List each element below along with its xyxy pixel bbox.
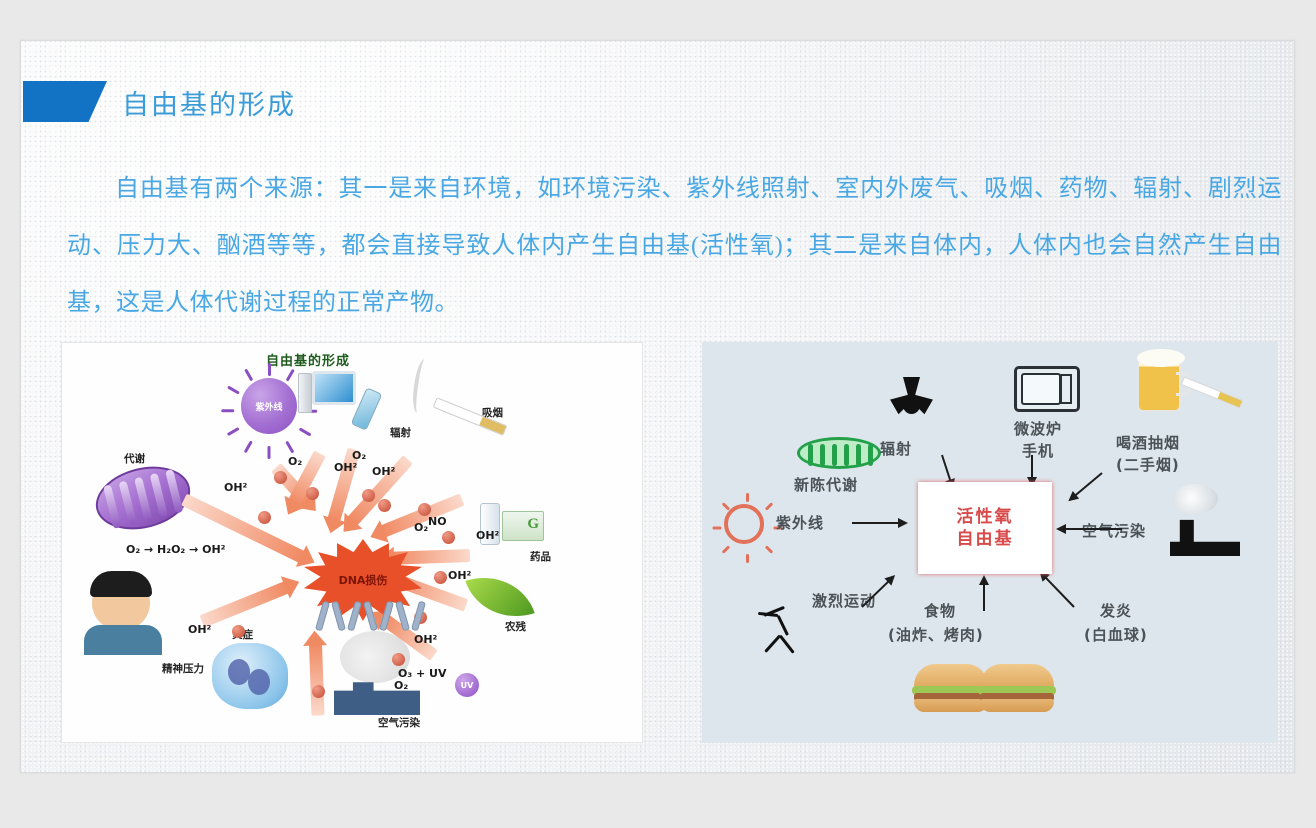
medicine-label: 药品 bbox=[530, 549, 551, 564]
white-blood-cell-label: (白血球) bbox=[1084, 624, 1148, 645]
oh-label: OH² bbox=[188, 623, 211, 636]
body-paragraph: 自由基有两个来源：其一是来自环境，如环境污染、紫外线照射、室内外废气、吸烟、药物… bbox=[67, 161, 1282, 332]
uv-ray-icon bbox=[299, 427, 312, 436]
radiation-trefoil-icon bbox=[884, 378, 938, 432]
cigarette-smoke-icon bbox=[410, 358, 431, 413]
flow-arrow bbox=[852, 522, 906, 524]
oh-label: OH² bbox=[224, 481, 247, 494]
factory-icon bbox=[1170, 514, 1240, 556]
air-pollution-label: 空气污染 bbox=[378, 715, 420, 730]
uv-badge-icon: UV bbox=[455, 673, 479, 697]
running-person-icon bbox=[750, 592, 806, 654]
molecule-dot bbox=[312, 685, 325, 698]
uv-sun-label: 紫外线 bbox=[255, 400, 282, 413]
uv-ray-icon bbox=[244, 441, 253, 454]
computer-monitor-icon bbox=[298, 371, 356, 417]
reaction-formula-label: O₂ → H₂O₂ → OH² bbox=[126, 543, 226, 556]
molecule-dot bbox=[392, 653, 405, 666]
no-label: NO bbox=[428, 515, 447, 528]
figure-right: 新陈代谢 辐射 微波炉 手机 喝酒抽烟 (二手烟) bbox=[702, 342, 1278, 743]
figures-row: 自由基的形成 紫外线 代谢 bbox=[61, 342, 1276, 747]
uv-ray-icon bbox=[244, 369, 253, 382]
stressed-person-icon bbox=[84, 571, 162, 645]
uv-label: 紫外线 bbox=[776, 512, 824, 533]
mitochondria-icon bbox=[797, 437, 881, 469]
uv-ray-icon bbox=[268, 363, 271, 376]
mitochondria-icon bbox=[89, 457, 197, 538]
pesticide-label: 农残 bbox=[505, 619, 526, 634]
uv-ray-icon bbox=[227, 427, 240, 436]
food-type-label: (油炸、烤肉) bbox=[888, 624, 984, 645]
reactive-oxygen-label: 活性氧 bbox=[957, 506, 1014, 528]
screenshot-root: 自由基的形成 自由基有两个来源：其一是来自环境，如环境污染、紫外线照射、室内外废… bbox=[0, 0, 1316, 828]
molecule-dot bbox=[378, 499, 391, 512]
beer-mug-icon bbox=[1137, 356, 1181, 412]
white-blood-cell-icon bbox=[212, 643, 288, 709]
metabolism-label: 新陈代谢 bbox=[794, 474, 858, 495]
cigarettes-icon bbox=[1181, 376, 1244, 408]
oh-label: OH² bbox=[476, 529, 499, 542]
reaction-arrow bbox=[200, 581, 290, 628]
flow-arrow bbox=[1040, 572, 1075, 608]
uv-ray-icon bbox=[286, 441, 295, 454]
molecule-dot bbox=[232, 625, 245, 638]
title-accent-shape bbox=[23, 81, 107, 122]
secondhand-smoke-label: (二手烟) bbox=[1116, 454, 1180, 475]
reactive-oxygen-burst: 活性氧 自由基 bbox=[918, 482, 1052, 574]
flow-arrow bbox=[1069, 472, 1102, 501]
molecule-dot bbox=[274, 471, 287, 484]
inflammation-label: 发炎 bbox=[1100, 600, 1132, 621]
microwave-icon bbox=[1014, 366, 1080, 412]
radiation-label: 辐射 bbox=[880, 438, 912, 459]
o2-label: O₂ bbox=[288, 455, 302, 468]
figure-left-caption: 自由基的形成 bbox=[266, 350, 350, 369]
o2-label: O₂ bbox=[414, 521, 428, 534]
uv-sun-icon: 紫外线 bbox=[241, 378, 297, 434]
molecule-dot bbox=[434, 571, 447, 584]
oh-label: OH² bbox=[334, 461, 357, 474]
o2-label: O₂ bbox=[394, 679, 408, 692]
oh-label: OH² bbox=[372, 465, 395, 478]
uv-ray-icon bbox=[268, 446, 271, 459]
molecule-dot bbox=[258, 511, 271, 524]
air-pollution-label: 空气污染 bbox=[1082, 520, 1146, 541]
factory-smoke-icon bbox=[1172, 484, 1218, 514]
burger-icon bbox=[980, 664, 1054, 710]
flow-arrow bbox=[1058, 528, 1122, 530]
dna-helix-icon bbox=[317, 601, 427, 635]
molecule-dot bbox=[442, 531, 455, 544]
drink-smoke-label: 喝酒抽烟 bbox=[1116, 432, 1180, 453]
uv-ray-icon bbox=[227, 386, 240, 395]
molecule-dot bbox=[362, 489, 375, 502]
uv-ray-icon bbox=[286, 369, 295, 382]
microwave-label: 微波炉 bbox=[1014, 418, 1062, 439]
stress-label: 精神压力 bbox=[162, 661, 204, 676]
figure-left: 自由基的形成 紫外线 代谢 bbox=[61, 342, 643, 743]
free-radical-label: 自由基 bbox=[957, 528, 1014, 550]
uv-ray-icon bbox=[221, 410, 234, 413]
page-title: 自由基的形成 bbox=[122, 83, 296, 122]
uv-badge-label: UV bbox=[461, 681, 474, 690]
slide-canvas: 自由基的形成 自由基有两个来源：其一是来自环境，如环境污染、紫外线照射、室内外废… bbox=[20, 40, 1295, 773]
phone-label: 手机 bbox=[1022, 440, 1054, 461]
reaction-arrow bbox=[309, 643, 325, 715]
burger-icon bbox=[914, 664, 988, 710]
smoking-label: 吸烟 bbox=[482, 405, 503, 420]
flow-arrow bbox=[983, 577, 985, 611]
flow-arrow bbox=[1031, 455, 1033, 485]
metabolism-label: 代谢 bbox=[124, 451, 145, 466]
molecule-dot bbox=[306, 487, 319, 500]
sun-icon bbox=[724, 504, 764, 544]
dna-damage-label: DNA损伤 bbox=[339, 572, 388, 588]
radiation-label: 辐射 bbox=[390, 425, 411, 440]
food-label: 食物 bbox=[924, 600, 956, 621]
medicine-box-icon: G bbox=[502, 511, 544, 541]
oh-label: OH² bbox=[448, 569, 471, 582]
